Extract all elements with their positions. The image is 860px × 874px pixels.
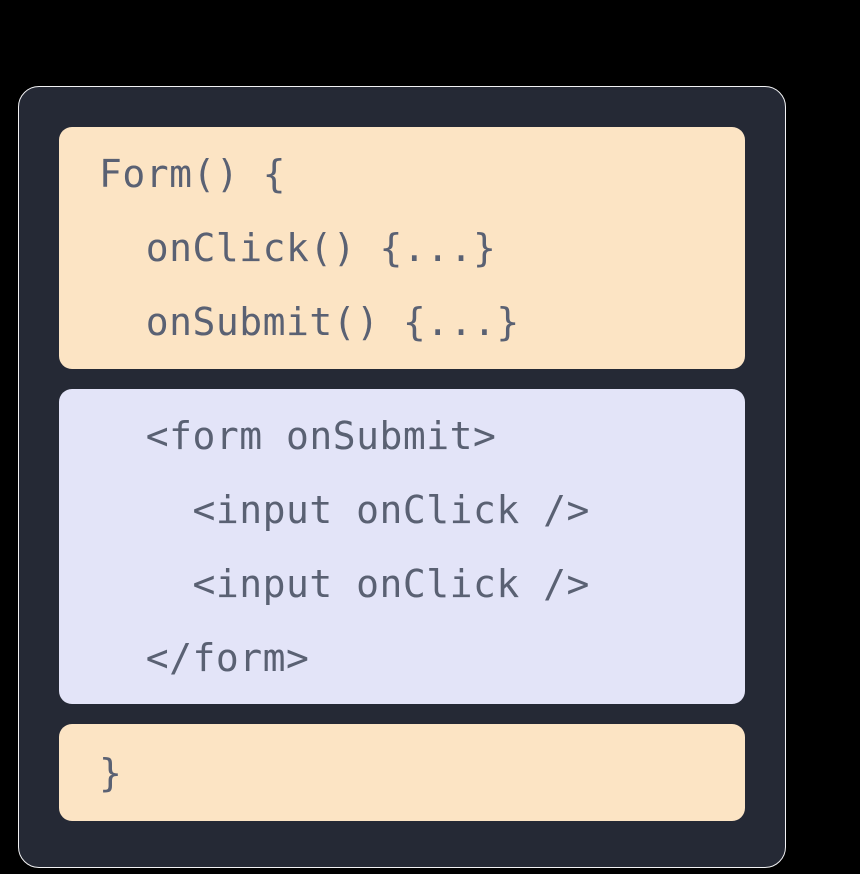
code-line: onSubmit() {...} (59, 285, 745, 359)
code-line: onClick() {...} (59, 211, 745, 285)
code-block-component-close: } (59, 724, 745, 821)
code-line: <input onClick /> (59, 547, 745, 621)
code-block-component-open: Form() { onClick() {...} onSubmit() {...… (59, 127, 745, 369)
code-line: Form() { (59, 137, 745, 211)
code-block-markup: <form onSubmit> <input onClick /> <input… (59, 389, 745, 704)
code-line: <input onClick /> (59, 473, 745, 547)
code-line: } (59, 748, 745, 798)
code-card: Form() { onClick() {...} onSubmit() {...… (18, 86, 786, 868)
canvas: Form() { onClick() {...} onSubmit() {...… (0, 0, 860, 874)
code-line: </form> (59, 621, 745, 695)
code-line: <form onSubmit> (59, 399, 745, 473)
